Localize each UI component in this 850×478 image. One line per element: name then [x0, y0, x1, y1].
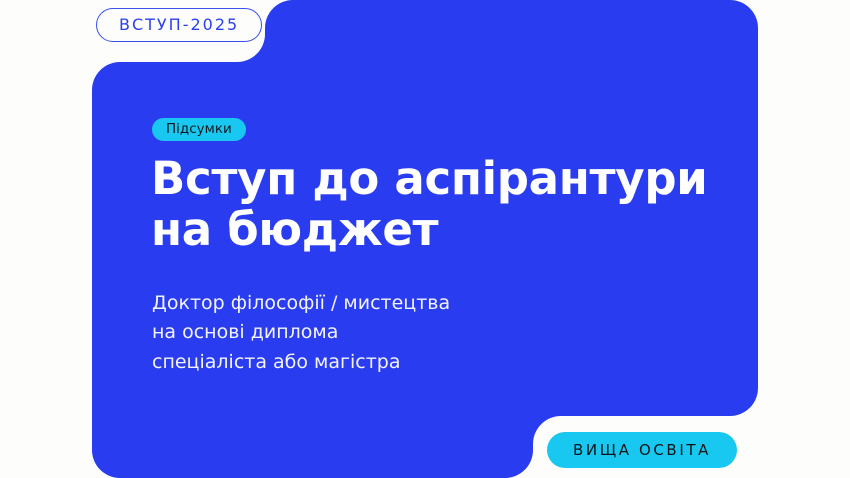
page-title-line-1: Вступ до аспірантури: [151, 153, 711, 204]
page-title: Вступ до аспірантури на бюджет: [151, 153, 711, 256]
higher-education-pill-label: ВИЩА ОСВІТА: [573, 443, 711, 458]
results-badge[interactable]: Підсумки: [152, 118, 246, 141]
page-subtitle: Доктор філософії / мистецтва на основі д…: [152, 289, 582, 377]
entry-year-pill[interactable]: ВСТУП-2025: [96, 8, 262, 42]
page-title-line-2: на бюджет: [151, 204, 711, 255]
higher-education-pill[interactable]: ВИЩА ОСВІТА: [547, 432, 737, 468]
page-subtitle-line-1: Доктор філософії / мистецтва: [152, 289, 582, 318]
results-badge-label: Підсумки: [166, 123, 232, 137]
poster-canvas: ВСТУП-2025 Підсумки Вступ до аспірантури…: [0, 0, 850, 478]
page-subtitle-line-3: спеціаліста або магістра: [152, 348, 582, 377]
page-subtitle-line-2: на основі диплома: [152, 318, 582, 347]
entry-year-pill-label: ВСТУП-2025: [119, 17, 239, 33]
